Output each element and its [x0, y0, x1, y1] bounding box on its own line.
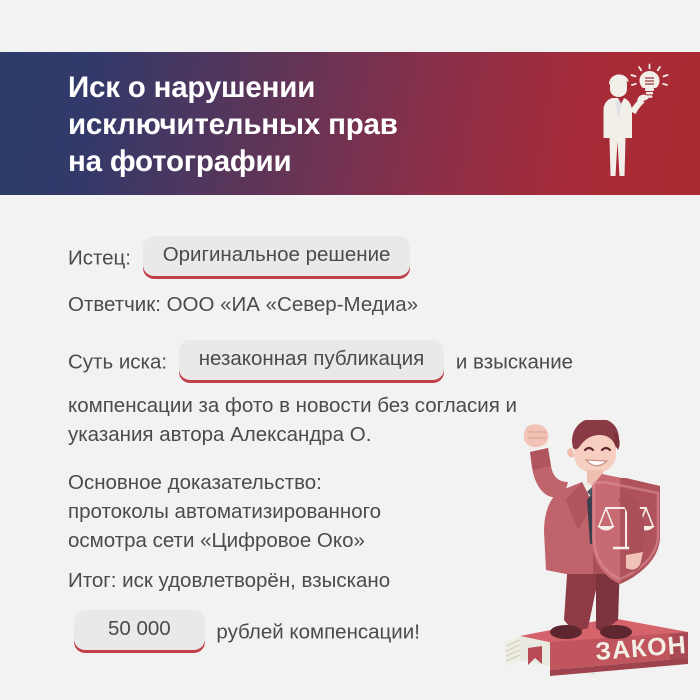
amount-row: 50 000 рублей компенсации!: [68, 612, 420, 652]
page-title: Иск о нарушении исключительных прав на ф…: [68, 69, 568, 180]
lawyer-with-shield-on-law-book: ЗАКОН: [492, 420, 700, 700]
header-banner: Иск о нарушении исключительных прав на ф…: [0, 52, 700, 195]
evidence-text: Основное доказательство: протоколы автом…: [68, 468, 381, 555]
plaintiff-value-pill[interactable]: Оригинальное решение: [143, 236, 411, 276]
amount-suffix: рублей компенсации!: [216, 620, 420, 643]
plaintiff-row: Истец: Оригинальное решение: [68, 238, 416, 278]
claim-suffix: и взыскание: [456, 350, 573, 373]
result-text: Итог: иск удовлетворён, взыскано: [68, 566, 390, 595]
defendant-row: Ответчик: ООО «ИА «Север-Медиа»: [68, 290, 418, 319]
amount-pill[interactable]: 50 000: [74, 610, 205, 650]
businessman-with-lightbulb-icon: [586, 62, 678, 187]
claim-label: Суть иска:: [68, 350, 173, 373]
claim-row: Суть иска: незаконная публикация и взыск…: [68, 342, 573, 382]
claim-body-text: компенсации за фото в новости без соглас…: [68, 391, 517, 449]
claim-value-pill[interactable]: незаконная публикация: [179, 340, 444, 380]
plaintiff-label: Истец:: [68, 246, 137, 269]
